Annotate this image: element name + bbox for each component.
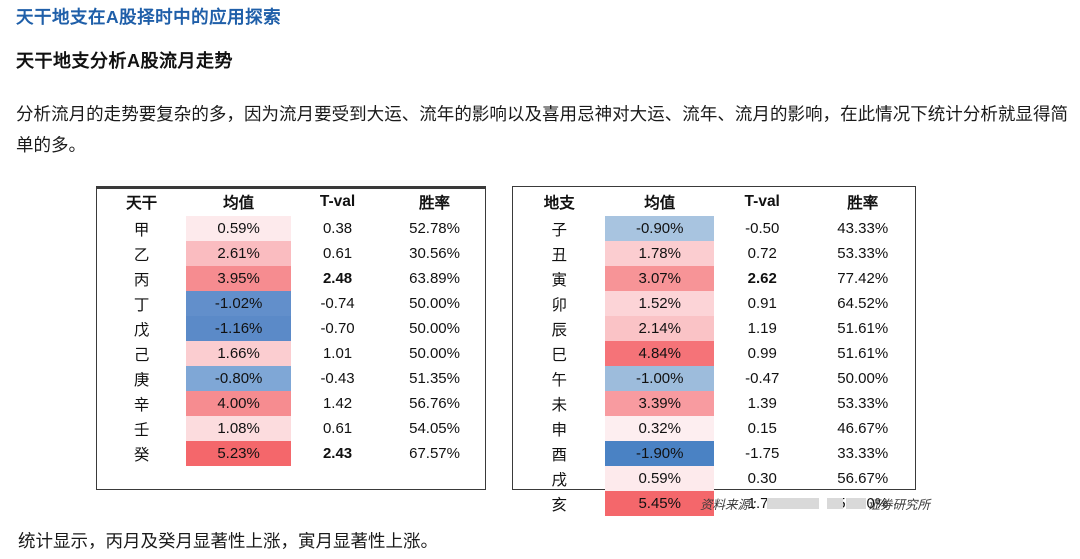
mean-cell: 4.84%	[605, 341, 714, 366]
body-paragraph: 分析流月的走势要复杂的多，因为流月要受到大运、流年的影响以及喜用忌神对大运、流年…	[16, 99, 1068, 161]
tval-cell: 1.01	[291, 341, 384, 366]
mean-cell: 2.14%	[605, 316, 714, 341]
earthly-branches-body: 子-0.90%-0.5043.33%丑1.78%0.7253.33%寅3.07%…	[513, 216, 915, 516]
win-rate-cell: 51.61%	[810, 316, 915, 341]
table-row: 巳4.84%0.9951.61%	[513, 341, 915, 366]
row-label: 未	[513, 391, 605, 416]
mean-cell: 0.59%	[605, 466, 714, 491]
table-row: 丑1.78%0.7253.33%	[513, 241, 915, 266]
table-row: 庚-0.80%-0.4351.35%	[97, 366, 485, 391]
win-rate-cell: 67.57%	[384, 441, 485, 466]
win-rate-cell: 51.35%	[384, 366, 485, 391]
row-label: 寅	[513, 266, 605, 291]
row-label: 卯	[513, 291, 605, 316]
column-header-label: 天干	[97, 187, 186, 216]
table-row: 丙3.95%2.4863.89%	[97, 266, 485, 291]
mean-cell: 5.45%	[605, 491, 714, 516]
mean-cell: 3.07%	[605, 266, 714, 291]
mean-cell: -0.90%	[605, 216, 714, 241]
win-rate-cell: 43.33%	[810, 216, 915, 241]
mean-cell: 1.66%	[186, 341, 291, 366]
earthly-branches-grid: 地支 均值 T-val 胜率 子-0.90%-0.5043.33%丑1.78%0…	[513, 187, 915, 516]
tval-cell: 0.15	[714, 416, 810, 441]
row-label: 巳	[513, 341, 605, 366]
table-row: 己1.66%1.0150.00%	[97, 341, 485, 366]
win-rate-cell: 50.00%	[384, 341, 485, 366]
column-header-tval: T-val	[714, 187, 810, 216]
row-label: 丙	[97, 266, 186, 291]
table-row: 寅3.07%2.6277.42%	[513, 266, 915, 291]
mean-cell: 0.59%	[186, 216, 291, 241]
tval-cell: 0.61	[291, 416, 384, 441]
tval-cell: 0.72	[714, 241, 810, 266]
heavenly-stems-body: 甲0.59%0.3852.78%乙2.61%0.6130.56%丙3.95%2.…	[97, 216, 485, 466]
tval-cell: -0.70	[291, 316, 384, 341]
win-rate-cell: 77.42%	[810, 266, 915, 291]
row-label: 庚	[97, 366, 186, 391]
row-label: 甲	[97, 216, 186, 241]
row-label: 辛	[97, 391, 186, 416]
mean-cell: 1.52%	[605, 291, 714, 316]
tval-cell: -0.43	[291, 366, 384, 391]
win-rate-cell: 33.33%	[810, 441, 915, 466]
table-row: 癸5.23%2.4367.57%	[97, 441, 485, 466]
table-row: 乙2.61%0.6130.56%	[97, 241, 485, 266]
win-rate-cell: 53.33%	[810, 391, 915, 416]
mean-cell: 0.32%	[605, 416, 714, 441]
footer-note: 统计显示，丙月及癸月显著性上涨，寅月显著性上涨。	[18, 527, 438, 555]
table-row: 丁-1.02%-0.7450.00%	[97, 291, 485, 316]
table-row: 戊-1.16%-0.7050.00%	[97, 316, 485, 341]
table-row: 未3.39%1.3953.33%	[513, 391, 915, 416]
column-header-mean: 均值	[186, 187, 291, 216]
win-rate-cell: 51.61%	[810, 341, 915, 366]
row-label: 申	[513, 416, 605, 441]
mean-cell: 1.78%	[605, 241, 714, 266]
table-row: 申0.32%0.1546.67%	[513, 416, 915, 441]
tval-cell: 0.61	[291, 241, 384, 266]
row-label: 子	[513, 216, 605, 241]
row-label: 乙	[97, 241, 186, 266]
win-rate-cell: 64.52%	[810, 291, 915, 316]
column-header-label: 地支	[513, 187, 605, 216]
table-row: 甲0.59%0.3852.78%	[97, 216, 485, 241]
row-label: 午	[513, 366, 605, 391]
win-rate-cell: 50.00%	[810, 366, 915, 391]
table-row: 酉-1.90%-1.7533.33%	[513, 441, 915, 466]
row-label: 丑	[513, 241, 605, 266]
mean-cell: -1.16%	[186, 316, 291, 341]
mean-cell: 1.08%	[186, 416, 291, 441]
win-rate-cell: 52.78%	[384, 216, 485, 241]
row-label: 癸	[97, 441, 186, 466]
redacted-block	[827, 498, 843, 509]
tval-cell: 0.91	[714, 291, 810, 316]
source-attribution: 资料来源： 证券研究所	[700, 494, 930, 513]
row-label: 戊	[97, 316, 186, 341]
table-header-row: 地支 均值 T-val 胜率	[513, 187, 915, 216]
mean-cell: 3.95%	[186, 266, 291, 291]
tval-cell: 1.19	[714, 316, 810, 341]
win-rate-cell: 50.00%	[384, 291, 485, 316]
row-label: 戌	[513, 466, 605, 491]
win-rate-cell: 50.00%	[384, 316, 485, 341]
redacted-block	[846, 498, 866, 509]
mean-cell: -1.90%	[605, 441, 714, 466]
win-rate-cell: 63.89%	[384, 266, 485, 291]
row-label: 酉	[513, 441, 605, 466]
tval-cell-significant: 2.43	[291, 441, 384, 466]
row-label: 丁	[97, 291, 186, 316]
win-rate-cell: 54.05%	[384, 416, 485, 441]
table-row: 壬1.08%0.6154.05%	[97, 416, 485, 441]
redacted-block	[767, 498, 819, 509]
section-heading: 天干地支分析A股流月走势	[16, 47, 233, 73]
tval-cell: 1.39	[714, 391, 810, 416]
tval-cell-significant: 2.48	[291, 266, 384, 291]
heavenly-stems-grid: 天干 均值 T-val 胜率 甲0.59%0.3852.78%乙2.61%0.6…	[97, 187, 485, 466]
table-row: 戌0.59%0.3056.67%	[513, 466, 915, 491]
column-header-tval: T-val	[291, 187, 384, 216]
mean-cell: -0.80%	[186, 366, 291, 391]
mean-cell: 4.00%	[186, 391, 291, 416]
row-label: 亥	[513, 491, 605, 516]
mean-cell: -1.02%	[186, 291, 291, 316]
win-rate-cell: 56.67%	[810, 466, 915, 491]
mean-cell: 2.61%	[186, 241, 291, 266]
row-label: 己	[97, 341, 186, 366]
tval-cell: 0.38	[291, 216, 384, 241]
table-header-row: 天干 均值 T-val 胜率	[97, 187, 485, 216]
win-rate-cell: 53.33%	[810, 241, 915, 266]
win-rate-cell: 46.67%	[810, 416, 915, 441]
win-rate-cell: 30.56%	[384, 241, 485, 266]
tval-cell: 0.99	[714, 341, 810, 366]
tval-cell: 0.30	[714, 466, 810, 491]
mean-cell: 5.23%	[186, 441, 291, 466]
tval-cell: -0.50	[714, 216, 810, 241]
tval-cell: -0.74	[291, 291, 384, 316]
mean-cell: -1.00%	[605, 366, 714, 391]
heavenly-stems-table: 天干 均值 T-val 胜率 甲0.59%0.3852.78%乙2.61%0.6…	[96, 186, 486, 490]
table-row: 子-0.90%-0.5043.33%	[513, 216, 915, 241]
table-row: 辰2.14%1.1951.61%	[513, 316, 915, 341]
mean-cell: 3.39%	[605, 391, 714, 416]
win-rate-cell: 56.76%	[384, 391, 485, 416]
row-label: 辰	[513, 316, 605, 341]
table-row: 卯1.52%0.9164.52%	[513, 291, 915, 316]
table-row: 午-1.00%-0.4750.00%	[513, 366, 915, 391]
source-prefix: 资料来源：	[700, 494, 763, 513]
tval-cell: 1.42	[291, 391, 384, 416]
column-header-win: 胜率	[384, 187, 485, 216]
earthly-branches-table: 地支 均值 T-val 胜率 子-0.90%-0.5043.33%丑1.78%0…	[512, 186, 916, 490]
row-label: 壬	[97, 416, 186, 441]
tval-cell: -0.47	[714, 366, 810, 391]
source-suffix: 证券研究所	[868, 494, 931, 513]
column-header-mean: 均值	[605, 187, 714, 216]
table-row: 辛4.00%1.4256.76%	[97, 391, 485, 416]
document-title: 天干地支在A股择时中的应用探索	[16, 4, 281, 29]
column-header-win: 胜率	[810, 187, 915, 216]
table-top-rule	[97, 187, 485, 189]
tval-cell-significant: 2.62	[714, 266, 810, 291]
tval-cell: -1.75	[714, 441, 810, 466]
